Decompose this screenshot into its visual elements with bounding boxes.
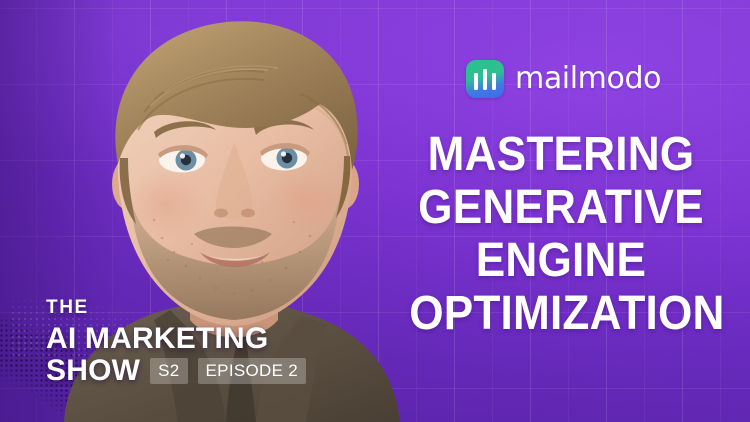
show-branding: THE AI MARKETING SHOW S2 EPISODE 2: [46, 298, 306, 386]
episode-title-line-4: OPTIMIZATION: [409, 287, 713, 340]
episode-title: MASTERING GENERATIVE ENGINE OPTIMIZATION: [396, 128, 726, 340]
episode-title-line-3: ENGINE: [409, 234, 713, 287]
mailmodo-logo-icon: [466, 60, 504, 98]
thumbnail-canvas: mailmodo MASTERING GENERATIVE ENGINE OPT…: [0, 0, 750, 422]
show-name-line-1: AI MARKETING: [46, 323, 306, 354]
episode-title-line-1: MASTERING: [409, 128, 713, 181]
show-name-line-2: SHOW: [46, 356, 140, 386]
show-the-label: THE: [46, 298, 306, 317]
mailmodo-wordmark: mailmodo: [515, 64, 661, 94]
mailmodo-logo-lockup: mailmodo: [466, 60, 661, 98]
episode-badge: EPISODE 2: [198, 358, 306, 384]
episode-title-line-2: GENERATIVE: [409, 181, 713, 234]
season-badge: S2: [150, 358, 187, 384]
